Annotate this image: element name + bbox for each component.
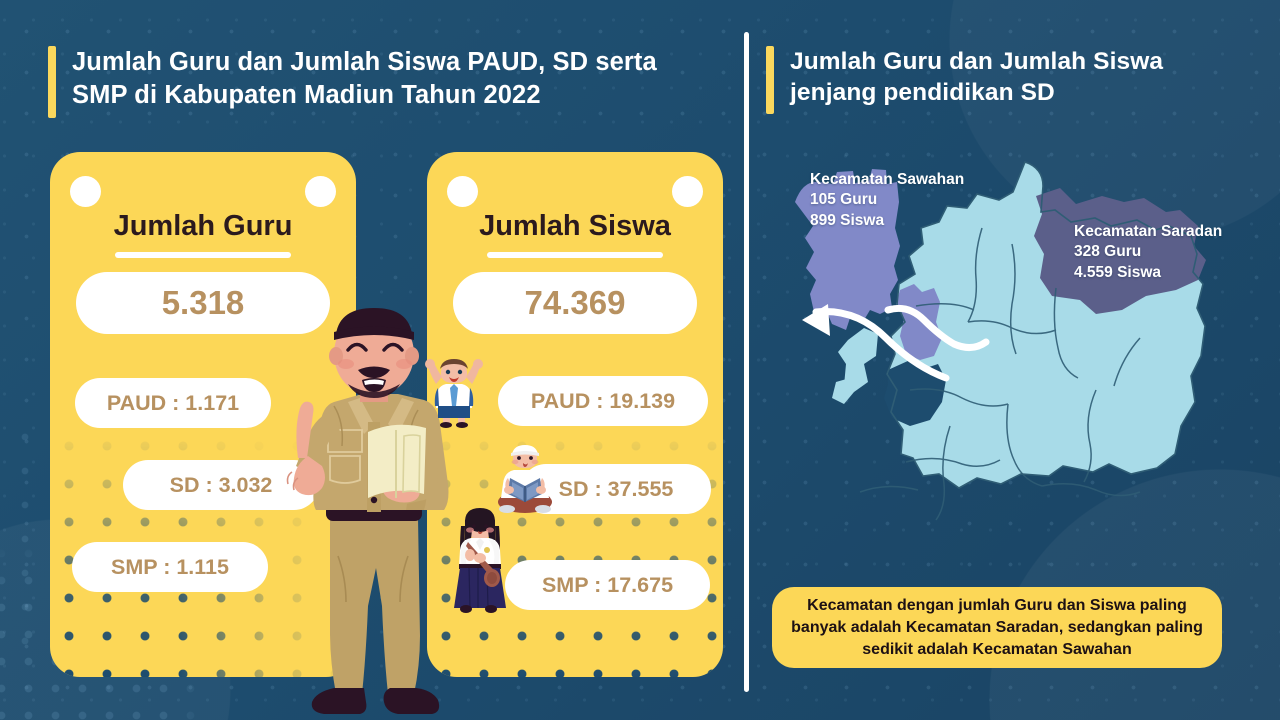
card-punch-hole-left: [447, 176, 478, 207]
title-accent-bar: [766, 46, 774, 114]
panel-divider: [744, 32, 749, 692]
card-punch-hole-right: [305, 176, 336, 207]
stat-card-guru-item-smp: SMP : 1.115: [72, 542, 268, 592]
map-label-sawahan-teachers: 105 Guru: [810, 190, 964, 210]
map-region-west-tip[interactable]: [832, 378, 854, 404]
student-smp-illustration: [449, 506, 511, 618]
left-panel-title-text: Jumlah Guru dan Jumlah Siswa PAUD, SD se…: [72, 46, 708, 111]
right-panel-title-text: Jumlah Guru dan Jumlah Siswa jenjang pen…: [790, 46, 1236, 109]
left-panel-title: Jumlah Guru dan Jumlah Siswa PAUD, SD se…: [48, 46, 708, 118]
card-punch-hole-right: [672, 176, 703, 207]
stat-card-siswa-total: 74.369: [453, 272, 697, 334]
infographic-canvas: Jumlah Guru dan Jumlah Siswa PAUD, SD se…: [0, 0, 1280, 720]
stat-card-siswa-item-paud: PAUD : 19.139: [498, 376, 708, 426]
map-label-saradan-students: 4.559 Siswa: [1074, 263, 1222, 283]
card-punch-hole-left: [70, 176, 101, 207]
right-panel-title: Jumlah Guru dan Jumlah Siswa jenjang pen…: [766, 46, 1236, 114]
map-summary-note: Kecamatan dengan jumlah Guru dan Siswa p…: [772, 587, 1222, 668]
map-label-sawahan: Kecamatan Sawahan 105 Guru 899 Siswa: [810, 170, 964, 231]
card-heading-rule: [487, 252, 663, 258]
title-accent-bar: [48, 46, 56, 118]
map-label-saradan-name: Kecamatan Saradan: [1074, 222, 1222, 242]
student-paud-illustration: [424, 356, 484, 428]
card-heading-rule: [115, 252, 291, 258]
map-label-sawahan-name: Kecamatan Sawahan: [810, 170, 964, 190]
map-label-saradan: Kecamatan Saradan 328 Guru 4.559 Siswa: [1074, 222, 1222, 283]
map-summary-note-text: Kecamatan dengan jumlah Guru dan Siswa p…: [786, 595, 1208, 660]
stat-card-guru-heading: Jumlah Guru: [50, 210, 356, 243]
map-label-saradan-teachers: 328 Guru: [1074, 242, 1222, 262]
stat-card-siswa-heading: Jumlah Siswa: [427, 210, 723, 243]
stat-card-guru-item-paud: PAUD : 1.171: [75, 378, 271, 428]
stat-card-siswa-item-smp: SMP : 17.675: [505, 560, 710, 610]
map-label-sawahan-students: 899 Siswa: [810, 211, 964, 231]
